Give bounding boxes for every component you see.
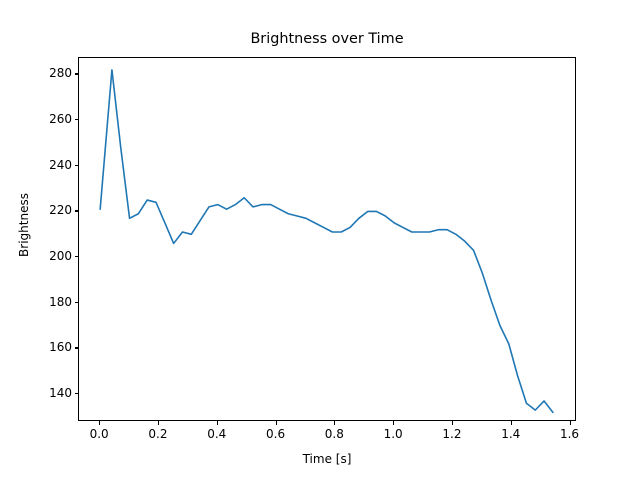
x-tick-mark — [276, 421, 277, 425]
y-tick-mark — [75, 347, 79, 348]
x-tick-mark — [452, 421, 453, 425]
x-axis-label: Time [s] — [78, 452, 576, 466]
x-tick-mark — [99, 421, 100, 425]
y-tick-mark — [75, 210, 79, 211]
x-tick-label: 1.6 — [540, 428, 600, 440]
x-tick-mark — [393, 421, 394, 425]
x-tick-label: 0.2 — [128, 428, 188, 440]
y-tick-mark — [75, 256, 79, 257]
y-axis-label: Brightness — [17, 165, 31, 285]
x-axis-tick-labels: 0.00.20.40.60.81.01.21.41.6 — [0, 0, 640, 480]
x-tick-label: 1.4 — [481, 428, 541, 440]
x-tick-label: 0.0 — [69, 428, 129, 440]
y-tick-mark — [75, 73, 79, 74]
x-tick-label: 0.4 — [187, 428, 247, 440]
x-tick-mark — [334, 421, 335, 425]
x-tick-mark — [217, 421, 218, 425]
y-tick-mark — [75, 119, 79, 120]
x-tick-label: 0.6 — [246, 428, 306, 440]
y-tick-mark — [75, 302, 79, 303]
x-tick-label: 1.2 — [422, 428, 482, 440]
x-tick-mark — [570, 421, 571, 425]
x-tick-mark — [511, 421, 512, 425]
x-tick-label: 1.0 — [363, 428, 423, 440]
x-tick-mark — [158, 421, 159, 425]
y-tick-mark — [75, 393, 79, 394]
x-tick-label: 0.8 — [304, 428, 364, 440]
y-tick-mark — [75, 165, 79, 166]
chart-figure: Brightness over Time 1401601802002202402… — [0, 0, 640, 480]
